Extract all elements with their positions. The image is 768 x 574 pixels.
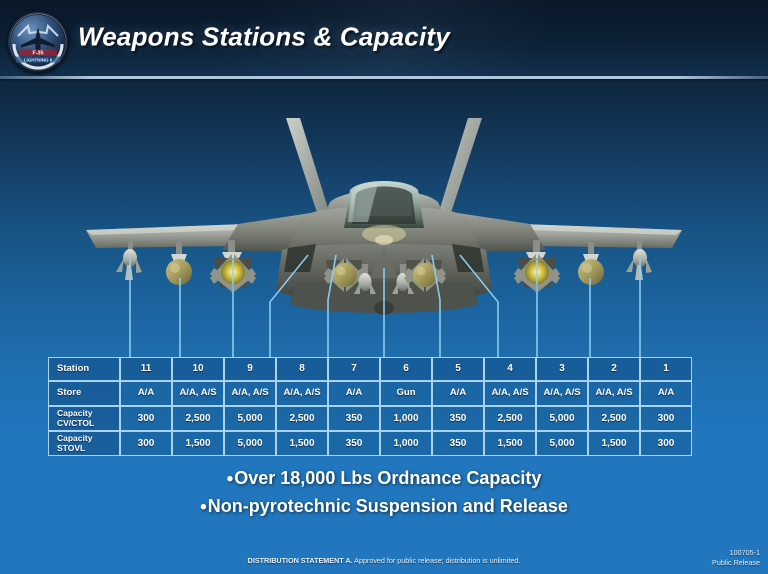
emblem-artwork: F-35 LIGHTNING II xyxy=(8,12,68,72)
row-label-line2: STOVL xyxy=(57,443,85,453)
bullet-dot-icon: • xyxy=(227,469,234,490)
cell-station-9: 9 xyxy=(224,357,276,381)
cell-cap-stovl-1: 300 xyxy=(640,431,692,456)
cell-store-1: A/A xyxy=(640,381,692,406)
cell-cap-stovl-3: 5,000 xyxy=(536,431,588,456)
cell-cap-stovl-6: 1,000 xyxy=(380,431,432,456)
cell-cap-stovl-11: 300 xyxy=(120,431,172,456)
bullet-list: •Over 18,000 Lbs Ordnance Capacity •Non-… xyxy=(0,466,768,522)
cell-store-4: A/A, A/S xyxy=(484,381,536,406)
leader-8 xyxy=(270,255,308,357)
table-row-station: Station 11 10 9 8 7 6 5 4 3 2 1 xyxy=(48,357,692,381)
row-label-line1: Capacity xyxy=(57,433,92,443)
cell-cap-cv-6: 1,000 xyxy=(380,406,432,431)
row-label-capacity-stovl: Capacity STOVL xyxy=(48,431,120,456)
cell-cap-stovl-4: 1,500 xyxy=(484,431,536,456)
leader-lines xyxy=(0,250,768,370)
cell-station-11: 11 xyxy=(120,357,172,381)
cell-cap-stovl-10: 1,500 xyxy=(172,431,224,456)
cell-station-10: 10 xyxy=(172,357,224,381)
leader-7 xyxy=(328,255,336,357)
distribution-statement-text: Approved for public release; distributio… xyxy=(353,556,521,565)
cell-store-8: A/A, A/S xyxy=(276,381,328,406)
row-label-line2: CV/CTOL xyxy=(57,418,94,428)
distribution-statement: DISTRIBUTION STATEMENT A. Approved for p… xyxy=(0,556,768,565)
bullet-item-2: •Non-pyrotechnic Suspension and Release xyxy=(0,494,768,522)
cell-cap-stovl-2: 1,500 xyxy=(588,431,640,456)
release-label: Public Release xyxy=(712,558,760,568)
cell-station-8: 8 xyxy=(276,357,328,381)
cell-cap-stovl-5: 350 xyxy=(432,431,484,456)
cell-station-3: 3 xyxy=(536,357,588,381)
cell-station-1: 1 xyxy=(640,357,692,381)
bullet-text-2: Non-pyrotechnic Suspension and Release xyxy=(208,496,568,516)
leader-4 xyxy=(460,255,498,357)
leader-line-artwork xyxy=(0,250,768,370)
bullet-dot-icon: • xyxy=(200,497,207,518)
cell-store-3: A/A, A/S xyxy=(536,381,588,406)
row-label-store: Store xyxy=(48,381,120,406)
emblem-bottom-text: LIGHTNING II xyxy=(24,57,53,62)
slide-canvas: F-35 LIGHTNING II Weapons Stations & Cap… xyxy=(0,0,768,574)
row-label-capacity-cv-ctol: Capacity CV/CTOL xyxy=(48,406,120,431)
footer-release-info: 100705-1 Public Release xyxy=(712,548,760,569)
cell-cap-cv-5: 350 xyxy=(432,406,484,431)
cell-store-10: A/A, A/S xyxy=(172,381,224,406)
row-label-line1: Capacity xyxy=(57,408,92,418)
cell-station-4: 4 xyxy=(484,357,536,381)
cell-cap-cv-8: 2,500 xyxy=(276,406,328,431)
cell-store-7: A/A xyxy=(328,381,380,406)
cell-store-2: A/A, A/S xyxy=(588,381,640,406)
cell-cap-cv-7: 350 xyxy=(328,406,380,431)
cell-cap-cv-2: 2,500 xyxy=(588,406,640,431)
cell-store-5: A/A xyxy=(432,381,484,406)
cell-station-7: 7 xyxy=(328,357,380,381)
row-label-station: Station xyxy=(48,357,120,381)
cell-store-9: A/A, A/S xyxy=(224,381,276,406)
document-number: 100705-1 xyxy=(712,548,760,558)
distribution-statement-label: DISTRIBUTION STATEMENT A. xyxy=(248,556,353,565)
leader-5 xyxy=(432,255,440,357)
page-title: Weapons Stations & Capacity xyxy=(78,22,450,53)
cell-cap-cv-9: 5,000 xyxy=(224,406,276,431)
header-divider-rule xyxy=(0,76,768,79)
bullet-item-1: •Over 18,000 Lbs Ordnance Capacity xyxy=(0,466,768,494)
cell-cap-cv-11: 300 xyxy=(120,406,172,431)
cell-cap-cv-10: 2,500 xyxy=(172,406,224,431)
table-row-store: Store A/A A/A, A/S A/A, A/S A/A, A/S A/A… xyxy=(48,381,692,406)
emblem-top-text: F-35 xyxy=(32,51,43,57)
f35-lightning-ii-emblem: F-35 LIGHTNING II xyxy=(8,12,68,72)
cell-cap-cv-3: 5,000 xyxy=(536,406,588,431)
cell-store-6: Gun xyxy=(380,381,432,406)
table-row-capacity-stovl: Capacity STOVL 300 1,500 5,000 1,500 350… xyxy=(48,431,692,456)
cell-cap-cv-4: 2,500 xyxy=(484,406,536,431)
cell-cap-cv-1: 300 xyxy=(640,406,692,431)
cell-station-2: 2 xyxy=(588,357,640,381)
cell-cap-stovl-9: 5,000 xyxy=(224,431,276,456)
weapons-stations-table: Station 11 10 9 8 7 6 5 4 3 2 1 Store A/… xyxy=(48,357,692,456)
cell-station-6: 6 xyxy=(380,357,432,381)
cell-store-11: A/A xyxy=(120,381,172,406)
table-row-capacity-cv-ctol: Capacity CV/CTOL 300 2,500 5,000 2,500 3… xyxy=(48,406,692,431)
cell-cap-stovl-7: 350 xyxy=(328,431,380,456)
cell-station-5: 5 xyxy=(432,357,484,381)
cell-cap-stovl-8: 1,500 xyxy=(276,431,328,456)
bullet-text-1: Over 18,000 Lbs Ordnance Capacity xyxy=(234,468,541,488)
